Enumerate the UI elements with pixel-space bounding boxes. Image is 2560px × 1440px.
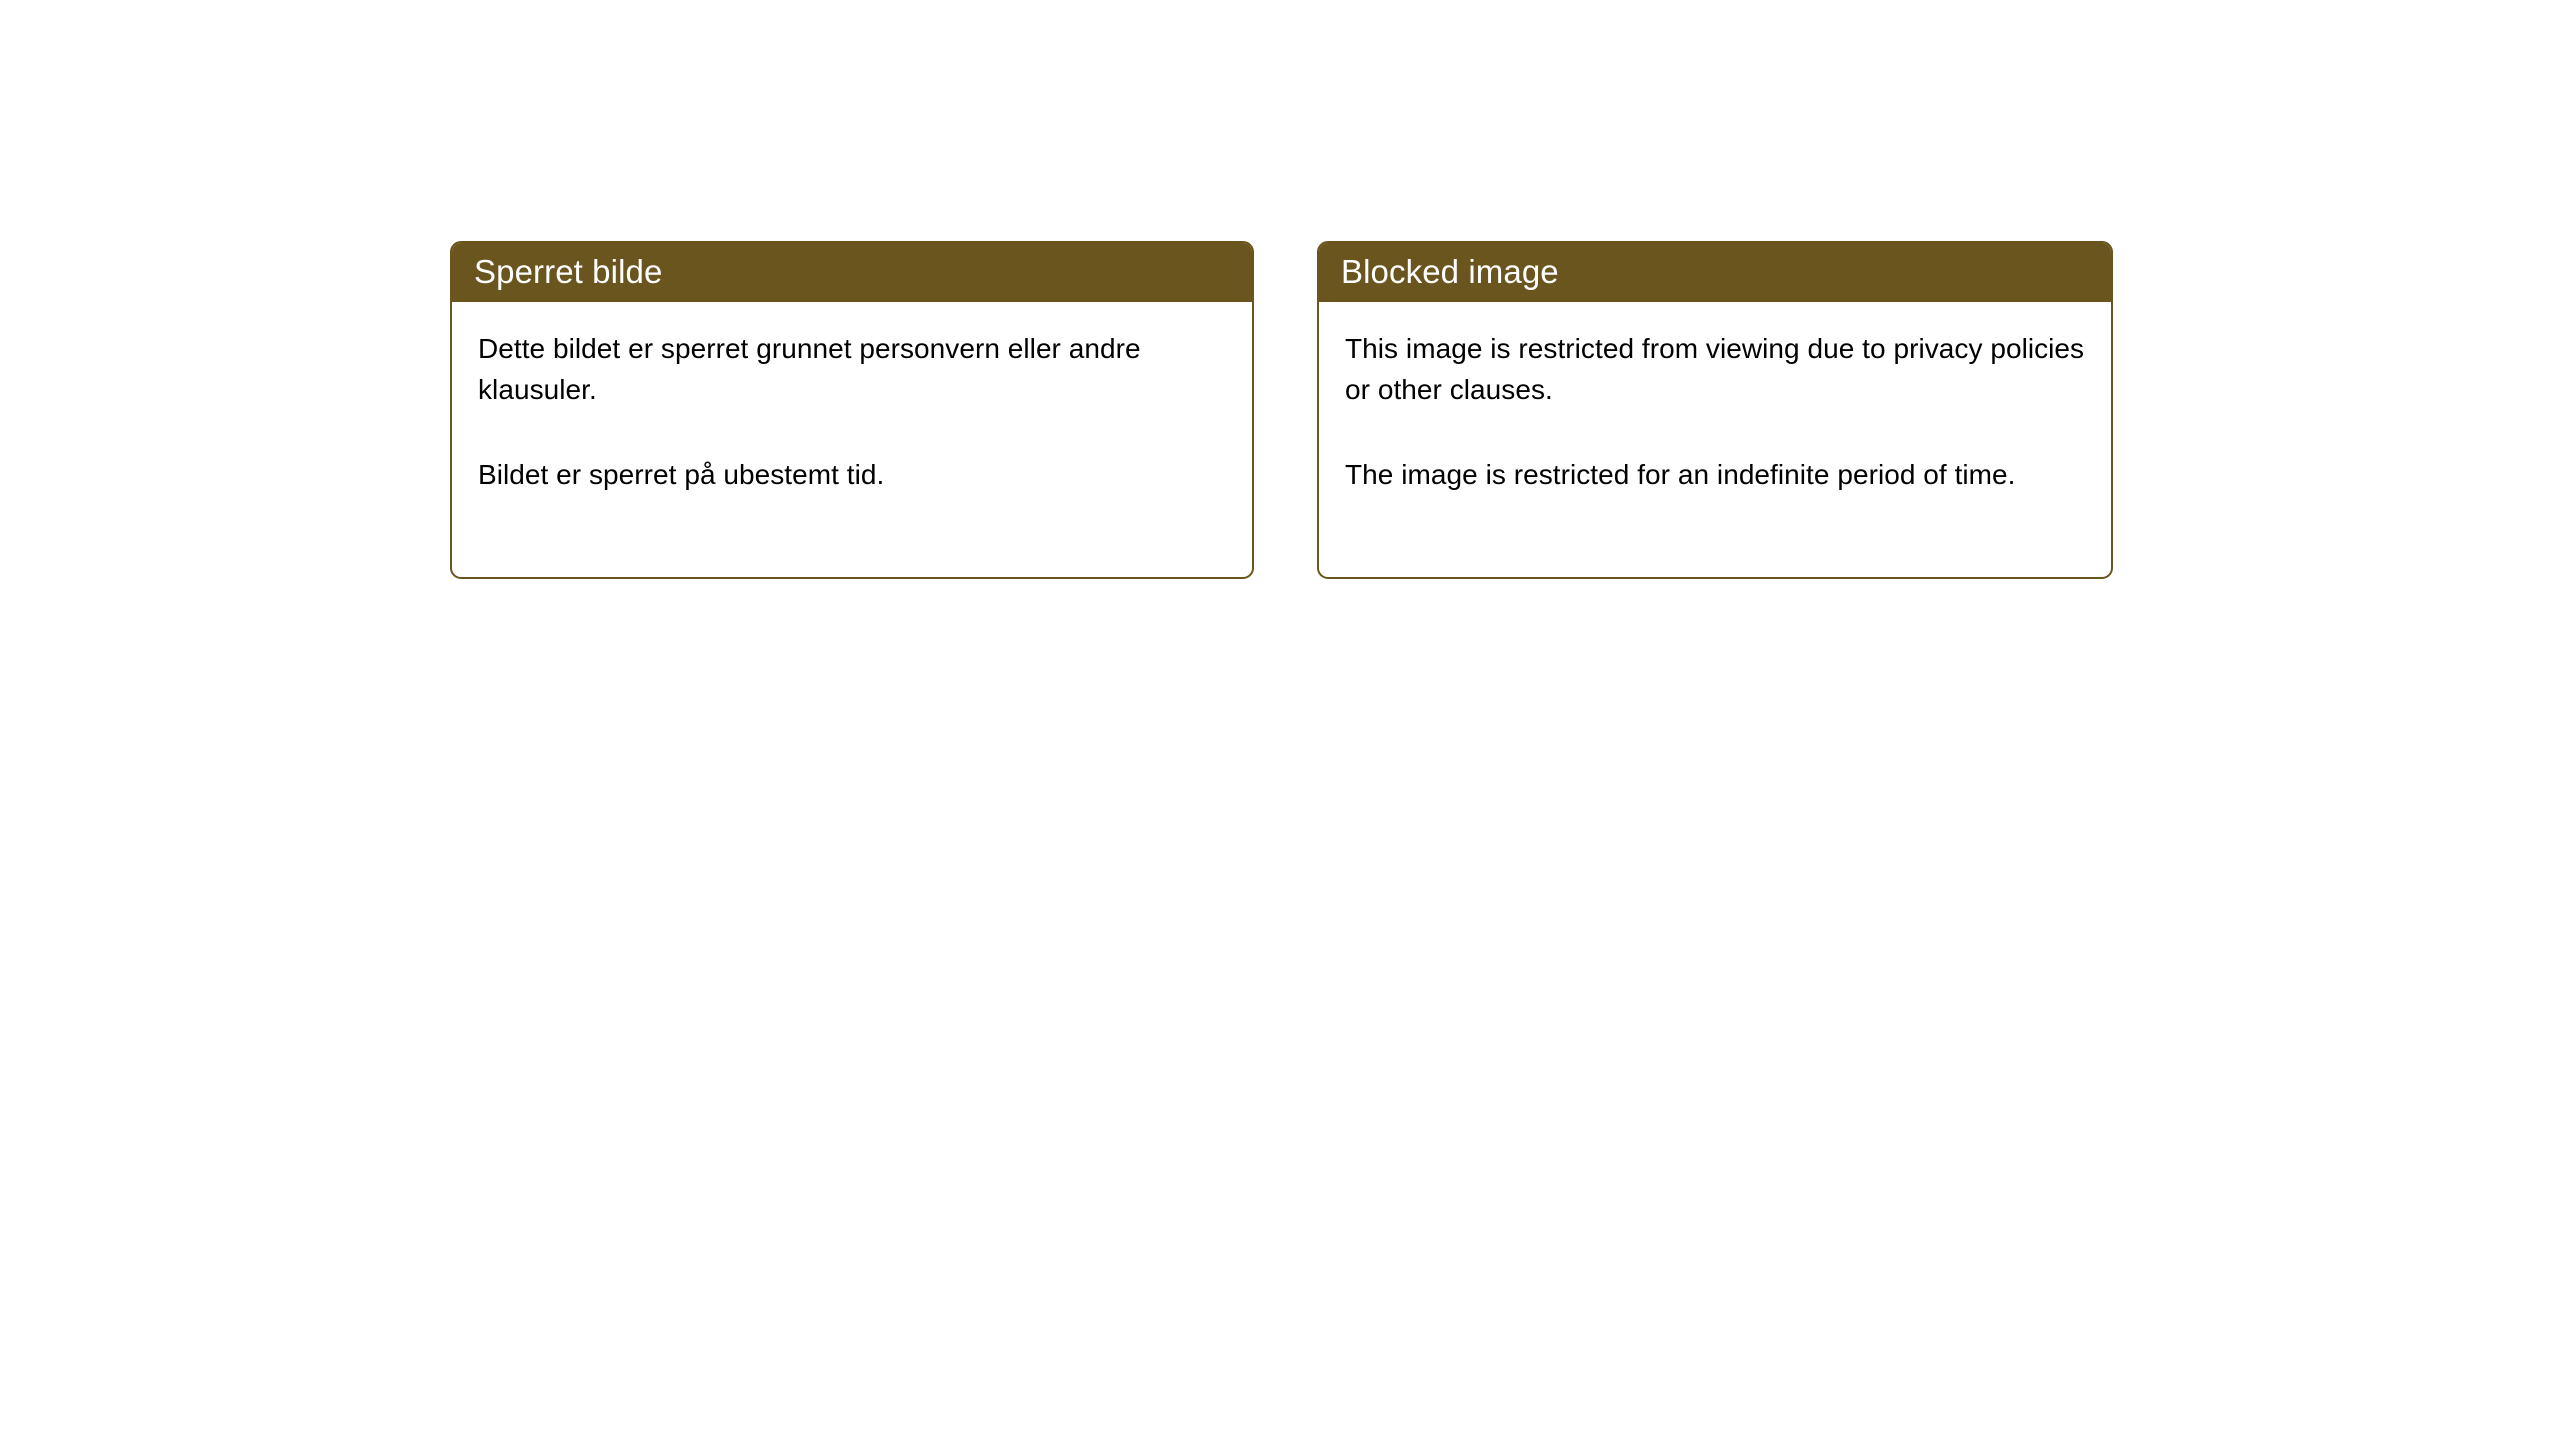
card-header-en: Blocked image bbox=[1317, 241, 2113, 302]
page-canvas: Sperret bilde Dette bildet er sperret gr… bbox=[0, 0, 2560, 1440]
card-paragraph-en-1: This image is restricted from viewing du… bbox=[1345, 328, 2087, 410]
paragraph-spacer-en bbox=[1345, 410, 2087, 454]
card-paragraph-no-1: Dette bildet er sperret grunnet personve… bbox=[478, 328, 1228, 410]
card-title-en: Blocked image bbox=[1341, 254, 1559, 290]
card-header-no: Sperret bilde bbox=[450, 241, 1254, 302]
card-paragraph-en-2: The image is restricted for an indefinit… bbox=[1345, 454, 2087, 495]
blocked-image-notice-card-no: Sperret bilde Dette bildet er sperret gr… bbox=[450, 241, 1254, 579]
card-body-no: Dette bildet er sperret grunnet personve… bbox=[452, 302, 1252, 495]
card-body-en: This image is restricted from viewing du… bbox=[1319, 302, 2111, 495]
card-paragraph-no-2: Bildet er sperret på ubestemt tid. bbox=[478, 454, 1228, 495]
paragraph-spacer-no bbox=[478, 410, 1228, 454]
blocked-image-notice-card-en: Blocked image This image is restricted f… bbox=[1317, 241, 2113, 579]
card-title-no: Sperret bilde bbox=[474, 254, 662, 290]
